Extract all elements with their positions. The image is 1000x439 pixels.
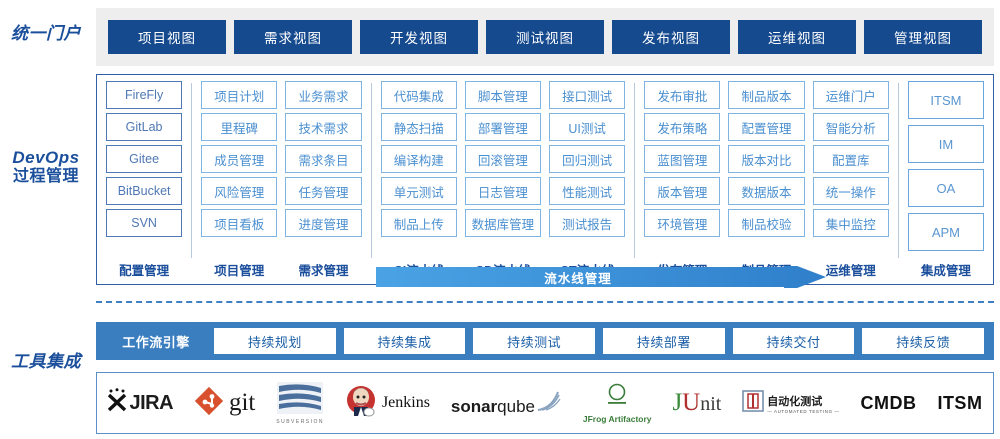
- jenkins-logo: Jenkins: [343, 379, 432, 427]
- devops-cell[interactable]: 项目计划: [201, 81, 277, 109]
- devops-column-1: FireFlyGitLabGiteeBitBucketSVN配置管理: [102, 81, 186, 284]
- pipeline-arrow-label: 流水线管理: [376, 266, 780, 288]
- devops-cell[interactable]: FireFly: [106, 81, 182, 109]
- jira-logo: JIRA: [105, 379, 175, 427]
- devops-cell[interactable]: 测试报告: [549, 209, 625, 237]
- devops-cell[interactable]: 版本管理: [644, 177, 720, 205]
- cmdb-wordmark: CMDB: [861, 393, 917, 414]
- devops-cell[interactable]: 日志管理: [465, 177, 541, 205]
- automated-testing-subtitle: — AUTOMATED TESTING —: [767, 409, 839, 414]
- tool-logo-strip: JIRAgitSUBVERSIONJenkinssonarqubesonarqu…: [96, 372, 994, 434]
- devops-cell[interactable]: UI测试: [549, 113, 625, 141]
- devops-column-footer: 项目管理: [201, 260, 277, 284]
- devops-cell[interactable]: 静态扫描: [381, 113, 457, 141]
- devops-cell[interactable]: 进度管理: [285, 209, 361, 237]
- workflow-stage-2[interactable]: 持续集成: [344, 328, 466, 354]
- git-diamond-icon: [194, 386, 224, 421]
- devops-cell[interactable]: 发布审批: [644, 81, 720, 109]
- devops-cell[interactable]: 集中监控: [813, 209, 889, 237]
- devops-cell[interactable]: 配置管理: [728, 113, 804, 141]
- portal-view-button-5[interactable]: 发布视图: [612, 20, 730, 54]
- devops-cell[interactable]: 配置库: [813, 145, 889, 173]
- subversion-logo: SUBVERSION: [274, 379, 326, 427]
- workflow-engine-bar: 工作流引擎 持续规划持续集成持续测试持续部署持续交付持续反馈: [96, 322, 994, 360]
- portal-view-button-4[interactable]: 测试视图: [486, 20, 604, 54]
- jira-mark-icon: [107, 388, 127, 418]
- workflow-stage-5[interactable]: 持续交付: [733, 328, 855, 354]
- devops-cell[interactable]: 编译构建: [381, 145, 457, 173]
- devops-column-8: 制品版本配置管理版本对比数据版本制品校验制品管理: [724, 81, 808, 284]
- devops-column-6: 接口测试UI测试回归测试性能测试测试报告CT流水线: [545, 81, 629, 284]
- devops-column-10: ITSMIMOAAPM集成管理: [904, 81, 988, 284]
- devops-column-7: 发布审批发布策略蓝图管理版本管理环境管理发布管理: [640, 81, 724, 284]
- devops-cell[interactable]: 制品校验: [728, 209, 804, 237]
- section-label-devops: DevOps 过程管理: [0, 148, 92, 187]
- devops-cell[interactable]: 发布策略: [644, 113, 720, 141]
- junit-logo: JUnitJUnit: [670, 379, 723, 427]
- devops-column-4: 代码集成静态扫描编译构建单元测试制品上传CI流水线: [377, 81, 461, 284]
- itsm-logo: ITSM: [935, 379, 984, 427]
- devops-cell[interactable]: 接口测试: [549, 81, 625, 109]
- devops-cell[interactable]: ITSM: [908, 81, 984, 119]
- devops-cell[interactable]: GitLab: [106, 113, 182, 141]
- devops-cell[interactable]: 里程碑: [201, 113, 277, 141]
- pipeline-arrow: 流水线管理: [376, 266, 826, 288]
- devops-cell[interactable]: 项目看板: [201, 209, 277, 237]
- cmdb-logo: CMDB: [859, 379, 919, 427]
- section-label-tools: 工具集成: [0, 352, 92, 372]
- subversion-mark-icon: [277, 382, 323, 419]
- devops-column-2: 项目计划里程碑成员管理风险管理项目看板项目管理: [197, 81, 281, 284]
- devops-cell[interactable]: 版本对比: [728, 145, 804, 173]
- column-group-separator: [898, 83, 899, 258]
- portal-view-button-6[interactable]: 运维视图: [738, 20, 856, 54]
- devops-platform-architecture-diagram: 统一门户 DevOps 过程管理 工具集成 项目视图需求视图开发视图测试视图发布…: [0, 0, 1000, 439]
- section-label-devops-en: DevOps: [0, 148, 92, 168]
- devops-cell[interactable]: 单元测试: [381, 177, 457, 205]
- jfrog-artifactory-logo: JFrog Artifactory: [581, 379, 654, 427]
- devops-column-footer: 需求管理: [285, 260, 361, 284]
- junit-wordmark: JUnit: [672, 389, 721, 417]
- devops-cell[interactable]: IM: [908, 125, 984, 163]
- devops-cell[interactable]: Gitee: [106, 145, 182, 173]
- column-group-separator: [634, 83, 635, 258]
- devops-cell[interactable]: 技术需求: [285, 113, 361, 141]
- section-label-devops-cn: 过程管理: [0, 168, 92, 187]
- devops-cell[interactable]: SVN: [106, 209, 182, 237]
- devops-cell[interactable]: 任务管理: [285, 177, 361, 205]
- itsm-wordmark: ITSM: [937, 393, 982, 414]
- jfrog-circle-icon: [604, 382, 630, 413]
- devops-column-9: 运维门户智能分析配置库统一操作集中监控运维管理: [809, 81, 893, 284]
- column-group-separator: [191, 83, 192, 258]
- automated-testing-wordmark: 自动化测试: [767, 393, 839, 409]
- portal-view-button-1[interactable]: 项目视图: [108, 20, 226, 54]
- devops-cell[interactable]: OA: [908, 169, 984, 207]
- devops-cell[interactable]: 数据版本: [728, 177, 804, 205]
- automated-testing-mark-icon: [742, 390, 764, 417]
- jfrog-wordmark: JFrog Artifactory: [583, 414, 652, 424]
- devops-cell[interactable]: 部署管理: [465, 113, 541, 141]
- devops-cell[interactable]: 运维门户: [813, 81, 889, 109]
- devops-cell[interactable]: 制品版本: [728, 81, 804, 109]
- devops-column-5: 脚本管理部署管理回滚管理日志管理数据库管理CD流水线: [461, 81, 545, 284]
- devops-cell[interactable]: 回滚管理: [465, 145, 541, 173]
- devops-cell[interactable]: 脚本管理: [465, 81, 541, 109]
- subversion-wordmark: SUBVERSION: [276, 419, 324, 425]
- workflow-stage-3[interactable]: 持续测试: [473, 328, 595, 354]
- section-label-portal: 统一门户: [0, 24, 92, 44]
- sonarqube-logo: sonarqubesonarqube: [449, 379, 564, 427]
- devops-column-3: 业务需求技术需求需求条目任务管理进度管理需求管理: [281, 81, 365, 284]
- jenkins-butler-icon: [345, 384, 377, 423]
- devops-cell[interactable]: BitBucket: [106, 177, 182, 205]
- workflow-stage-4[interactable]: 持续部署: [603, 328, 725, 354]
- workflow-engine-title: 工作流引擎: [102, 332, 210, 351]
- devops-column-footer: 配置管理: [106, 260, 182, 284]
- git-logo: git: [192, 379, 257, 427]
- section-divider: [96, 301, 994, 303]
- devops-cell[interactable]: 业务需求: [285, 81, 361, 109]
- devops-cell[interactable]: 成员管理: [201, 145, 277, 173]
- sonarqube-waves-icon: [536, 390, 562, 417]
- git-wordmark: git: [229, 389, 255, 417]
- portal-view-button-2[interactable]: 需求视图: [234, 20, 352, 54]
- devops-column-footer: 集成管理: [908, 260, 984, 284]
- devops-cell[interactable]: 智能分析: [813, 113, 889, 141]
- workflow-stage-6[interactable]: 持续反馈: [862, 328, 984, 354]
- workflow-stage-1[interactable]: 持续规划: [214, 328, 336, 354]
- devops-cell[interactable]: 性能测试: [549, 177, 625, 205]
- devops-cell[interactable]: 需求条目: [285, 145, 361, 173]
- devops-cell[interactable]: 数据库管理: [465, 209, 541, 237]
- devops-cell[interactable]: 环境管理: [644, 209, 720, 237]
- sonarqube-wordmark: sonarqube: [451, 397, 535, 417]
- jenkins-wordmark: Jenkins: [382, 394, 430, 412]
- devops-cell[interactable]: 蓝图管理: [644, 145, 720, 173]
- column-group-separator: [371, 83, 372, 258]
- jira-wordmark: JIRA: [129, 392, 173, 415]
- devops-cell[interactable]: 回归测试: [549, 145, 625, 173]
- portal-view-button-7[interactable]: 管理视图: [864, 20, 982, 54]
- portal-view-bar: 项目视图需求视图开发视图测试视图发布视图运维视图管理视图: [96, 8, 994, 66]
- devops-cell[interactable]: 制品上传: [381, 209, 457, 237]
- devops-cell[interactable]: 代码集成: [381, 81, 457, 109]
- automated-testing-logo: 自动化测试— AUTOMATED TESTING —: [740, 379, 841, 427]
- devops-cell[interactable]: APM: [908, 213, 984, 251]
- devops-process-panel: FireFlyGitLabGiteeBitBucketSVN配置管理项目计划里程…: [96, 74, 994, 285]
- portal-view-button-3[interactable]: 开发视图: [360, 20, 478, 54]
- devops-cell[interactable]: 风险管理: [201, 177, 277, 205]
- devops-cell[interactable]: 统一操作: [813, 177, 889, 205]
